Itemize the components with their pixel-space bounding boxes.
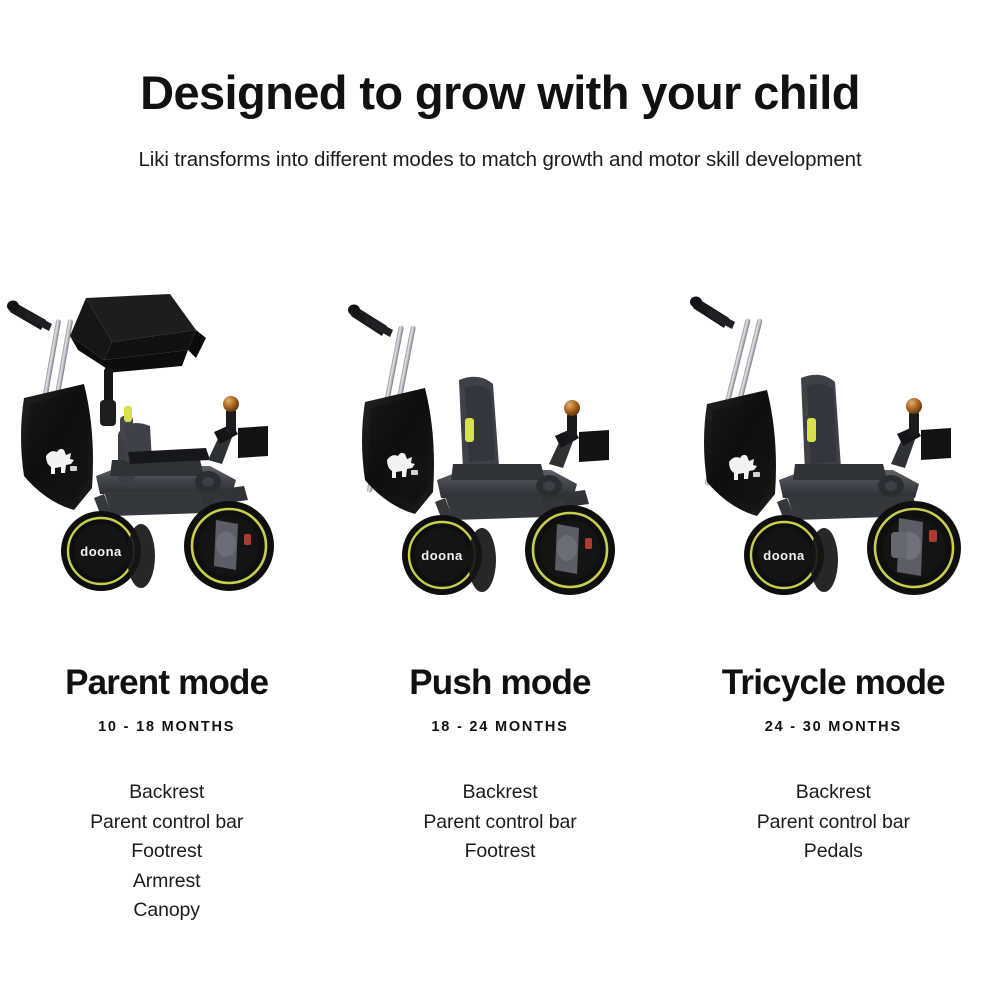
seatback-tricycle [801, 375, 841, 472]
yellow-accent-tab [124, 406, 132, 422]
mode-title-tricycle: Tricycle mode [722, 610, 945, 700]
canopy-parent [70, 294, 206, 426]
backrest-parent [21, 384, 93, 510]
feature-item: Backrest [90, 778, 243, 808]
amber-knob-icon [564, 400, 580, 416]
feature-item: Armrest [90, 867, 243, 897]
wheel-brand-label: doona [422, 548, 464, 563]
mode-card-push: doona Push mode 18 - 24 MONTHS B [333, 280, 666, 926]
amber-knob-icon [223, 396, 239, 412]
rear-wheel-push: doona [402, 515, 496, 595]
pedal-red-accent [929, 530, 937, 542]
feature-item: Parent control bar [90, 808, 243, 838]
page-title: Designed to grow with your child [0, 0, 1000, 118]
trike-illustration-tricycle: doona [667, 280, 1000, 610]
rear-wheel-tricycle: doona [744, 515, 838, 595]
wheel-brand-label: doona [763, 548, 805, 563]
feature-item: Parent control bar [757, 808, 910, 838]
mode-age-push: 18 - 24 MONTHS [431, 700, 568, 735]
mode-card-parent: doona Parent mode 10 - 18 MONTHS [0, 280, 333, 926]
header: Designed to grow with your child Liki tr… [0, 0, 1000, 172]
mode-columns: doona Parent mode 10 - 18 MONTHS [0, 280, 1000, 926]
feature-item: Pedals [757, 837, 910, 867]
mode-card-tricycle: doona [667, 280, 1000, 926]
mode-title-parent: Parent mode [65, 610, 268, 700]
feature-list-tricycle: Backrest Parent control bar Pedals [757, 735, 910, 867]
front-wheel-parent [184, 501, 274, 591]
backrest-tricycle [704, 390, 776, 516]
feature-item: Parent control bar [423, 808, 576, 838]
mode-title-push: Push mode [409, 610, 590, 700]
product-image-tricycle-mode: doona [667, 280, 1000, 610]
trike-illustration-parent: doona [0, 280, 333, 610]
feature-list-parent: Backrest Parent control bar Footrest Arm… [90, 735, 243, 926]
feature-item: Footrest [423, 837, 576, 867]
yellow-accent-tab [807, 418, 816, 442]
trike-illustration-push: doona [333, 280, 666, 610]
backrest-push [362, 388, 434, 514]
feature-item: Backrest [423, 778, 576, 808]
feature-item: Canopy [90, 896, 243, 926]
amber-knob-icon [906, 398, 922, 414]
front-wheel-push [525, 505, 615, 595]
mode-age-tricycle: 24 - 30 MONTHS [765, 700, 902, 735]
page-subtitle: Liki transforms into different modes to … [0, 118, 1000, 172]
mode-age-parent: 10 - 18 MONTHS [98, 700, 235, 735]
product-image-push-mode: doona [333, 280, 666, 610]
front-wheel-tricycle-with-pedals [867, 501, 961, 595]
seatback-push [459, 377, 499, 470]
wheel-brand-label: doona [80, 544, 122, 559]
rear-wheel-parent: doona [61, 511, 155, 591]
product-modes-infographic: Designed to grow with your child Liki tr… [0, 0, 1000, 1000]
feature-item: Backrest [757, 778, 910, 808]
feature-item: Footrest [90, 837, 243, 867]
yellow-accent-tab [465, 418, 474, 442]
product-image-parent-mode: doona [0, 280, 333, 610]
feature-list-push: Backrest Parent control bar Footrest [423, 735, 576, 867]
